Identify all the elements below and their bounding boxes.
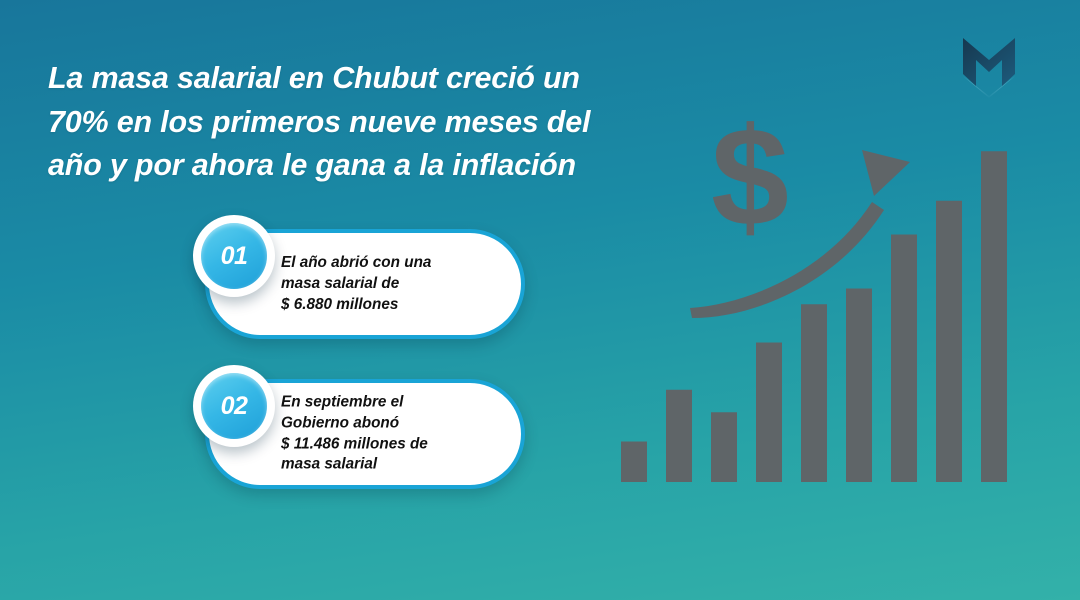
callout-number: 01 xyxy=(221,242,248,271)
chart-bar xyxy=(846,289,872,483)
chart-bar xyxy=(756,343,782,483)
callout-badge-01: 01 xyxy=(193,215,275,297)
callout-text-01: El año abrió con una masa salarial de $ … xyxy=(281,253,501,315)
chart-bar xyxy=(666,390,692,482)
growth-chart-graphic: $ xyxy=(600,90,1020,500)
callout-card-02: 02 En septiembre el Gobierno abonó $ 11.… xyxy=(205,379,525,489)
callout-badge-circle: 01 xyxy=(201,223,267,289)
callout-number: 02 xyxy=(221,392,248,421)
svg-text:$: $ xyxy=(711,98,789,255)
chart-bar xyxy=(936,201,962,482)
chart-bar xyxy=(801,304,827,482)
bar-group xyxy=(621,151,1007,482)
callout-text-02: En septiembre el Gobierno abonó $ 11.486… xyxy=(281,392,501,475)
dollar-sign-icon: $ xyxy=(711,98,789,255)
m-logo xyxy=(953,30,1025,102)
chart-bar xyxy=(981,151,1007,482)
page-title: La masa salarial en Chubut creció un 70%… xyxy=(48,57,688,188)
callout-badge-circle: 02 xyxy=(201,373,267,439)
chart-bar xyxy=(891,235,917,483)
infographic-canvas: La masa salarial en Chubut creció un 70%… xyxy=(0,0,1080,600)
chart-bar xyxy=(711,412,737,482)
callout-card-01: 01 El año abrió con una masa salarial de… xyxy=(205,229,525,339)
callout-badge-02: 02 xyxy=(193,365,275,447)
chart-bar xyxy=(621,442,647,483)
m-logo-mark xyxy=(963,38,1015,86)
